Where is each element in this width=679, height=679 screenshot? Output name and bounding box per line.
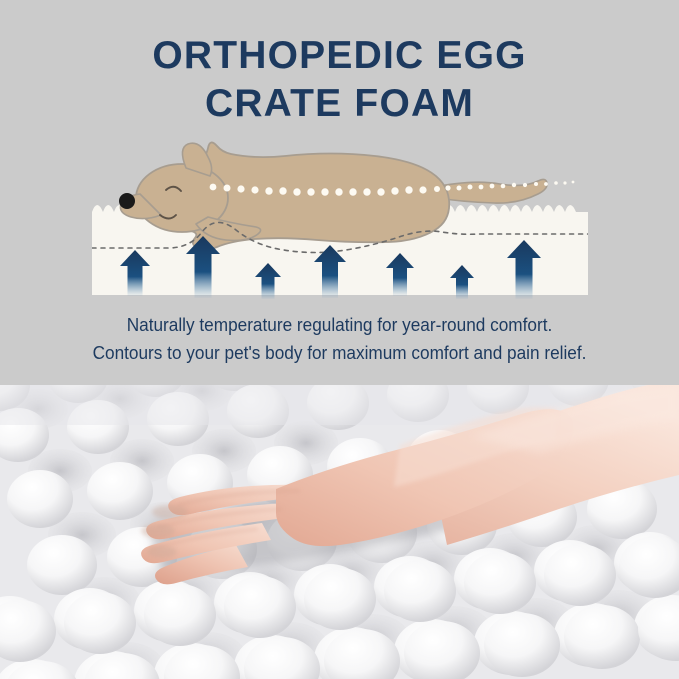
page-title: ORTHOPEDIC EGG CRATE FOAM bbox=[0, 32, 679, 127]
copy-line-2: Contours to your pet's body for maximum … bbox=[24, 339, 655, 367]
foam-photo bbox=[0, 385, 679, 679]
title-line-1: ORTHOPEDIC EGG bbox=[0, 32, 679, 80]
dog-on-foam-illustration bbox=[0, 120, 679, 310]
body-copy: Naturally temperature regulating for yea… bbox=[0, 311, 679, 367]
dog-nose bbox=[119, 193, 135, 209]
product-infographic-page: ORTHOPEDIC EGG CRATE FOAM bbox=[0, 0, 679, 679]
copy-line-1: Naturally temperature regulating for yea… bbox=[24, 311, 655, 339]
info-panel: ORTHOPEDIC EGG CRATE FOAM bbox=[0, 0, 679, 385]
